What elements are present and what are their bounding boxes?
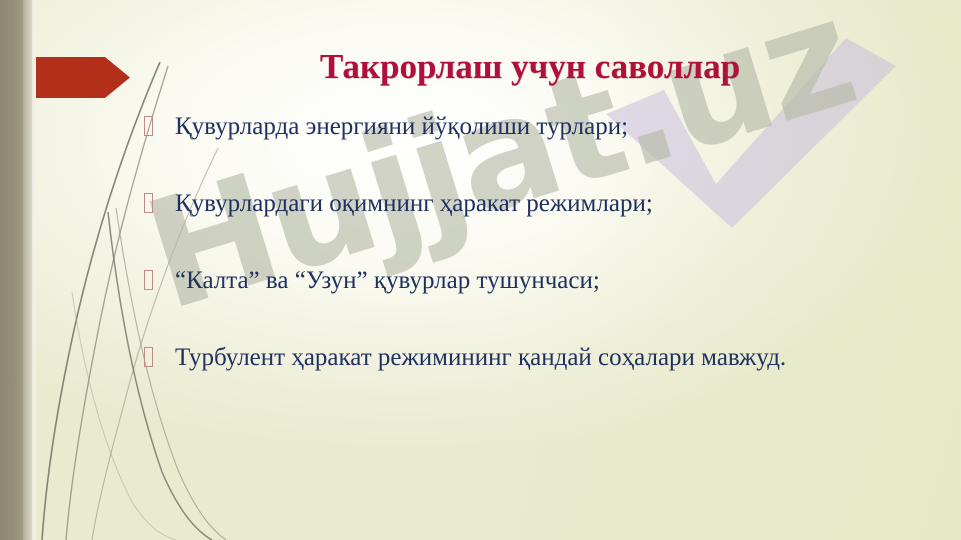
left-decorative-strip-edge (23, 0, 32, 540)
list-item: “Калта” ва “Узун” қувурлар тушунчаси; (144, 264, 924, 297)
presentation-slide: Hujjat.uz Такрорлаш учун саволлар Қувурл… (0, 0, 961, 540)
list-item-label: “Калта” ва “Узун” қувурлар тушунчаси; (175, 264, 924, 297)
list-item: Қувурлардаги оқимнинг ҳаракат режимлари; (144, 187, 924, 220)
left-decorative-strip (0, 0, 23, 540)
list-item: Турбулент ҳаракат режимининг қандай соҳа… (144, 341, 924, 374)
list-item-label: Турбулент ҳаракат режимининг қандай соҳа… (175, 341, 924, 374)
slide-body-list: Қувурларда энергияни йўқолиши турлари; Қ… (144, 110, 924, 374)
square-outline-bullet-icon (144, 270, 153, 290)
slide-title: Такрорлаш учун саволлар (130, 47, 930, 87)
square-outline-bullet-icon (144, 193, 153, 213)
square-outline-bullet-icon (144, 116, 153, 136)
list-item: Қувурларда энергияни йўқолиши турлари; (144, 110, 924, 143)
list-item-label: Қувурлардаги оқимнинг ҳаракат режимлари; (175, 187, 924, 220)
left-decorative-strip-inner (32, 0, 36, 540)
square-outline-bullet-icon (144, 347, 153, 367)
list-item-label: Қувурларда энергияни йўқолиши турлари; (175, 110, 924, 143)
